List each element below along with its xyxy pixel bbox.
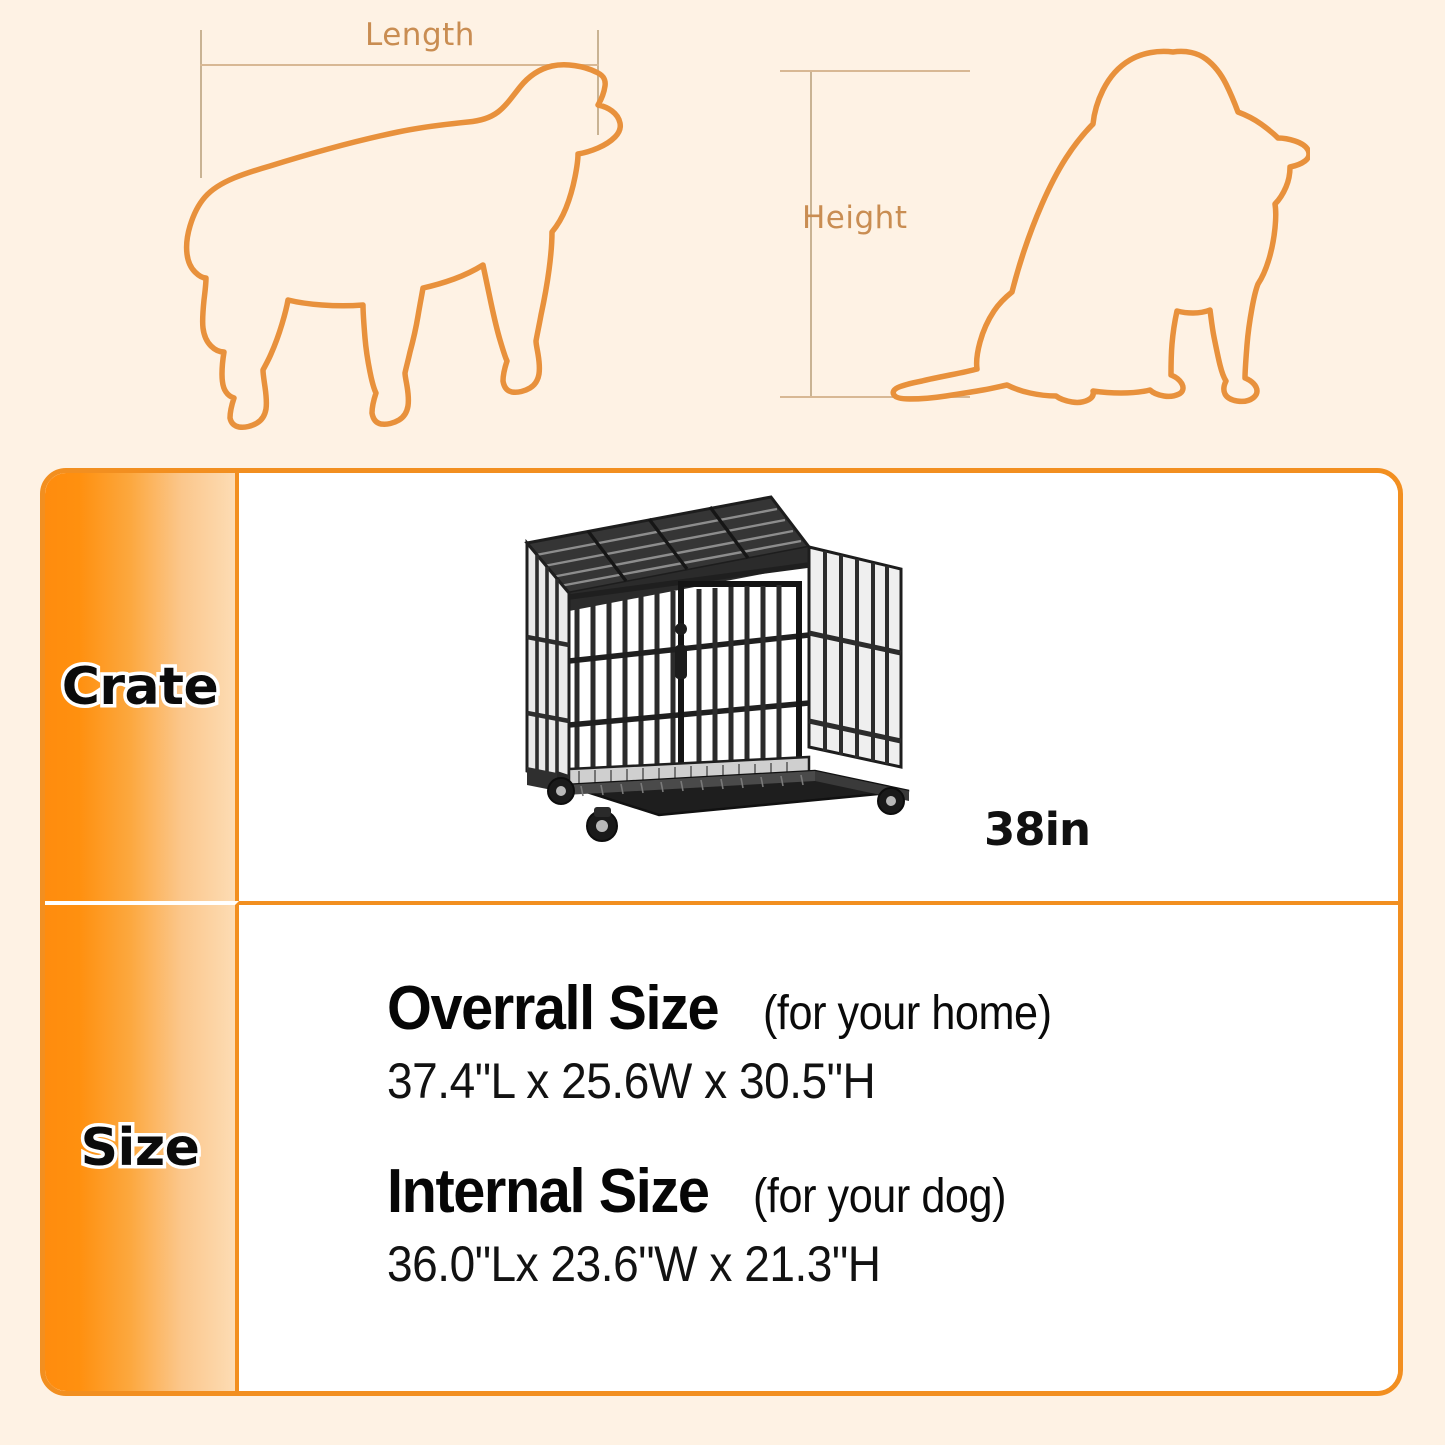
internal-size-group: Internal Size (for your dog) 36.0"Lx 23.… (387, 1156, 1387, 1293)
dog-size-diagram: Length Height (0, 0, 1445, 455)
internal-size-heading: Internal Size (387, 1156, 709, 1227)
crate-row: Crate (45, 473, 1398, 901)
size-row-content: Overrall Size (for your home) 37.4"L x 2… (239, 905, 1398, 1391)
internal-size-value: 36.0"Lx 23.6"W x 21.3"H (387, 1235, 1307, 1293)
crate-row-content: 38in (239, 473, 1398, 901)
height-measurement-panel: Height (760, 0, 1300, 455)
overall-size-value: 37.4"L x 25.6W x 30.5"H (387, 1052, 1307, 1110)
internal-size-note: (for your dog) (753, 1169, 1006, 1224)
sitting-dog-outline-icon (890, 40, 1310, 410)
size-spec-list: Overrall Size (for your home) 37.4"L x 2… (387, 973, 1387, 1339)
crate-row-label-cell: Crate (45, 473, 239, 901)
overall-size-group: Overrall Size (for your home) 37.4"L x 2… (387, 973, 1387, 1110)
crate-dimension-callout: 38in (984, 803, 1090, 856)
overall-size-heading: Overrall Size (387, 973, 718, 1044)
size-row-label-cell: Size (45, 901, 239, 1391)
spec-card: Crate (40, 468, 1403, 1396)
length-measurement-panel: Length (150, 0, 670, 455)
size-row: Size Overrall Size (for your home) 37.4"… (45, 901, 1398, 1391)
overall-size-note: (for your home) (763, 986, 1052, 1041)
standing-dog-outline-icon (160, 36, 630, 436)
dog-crate-photo-icon (509, 485, 929, 875)
crate-row-label: Crate (62, 657, 219, 717)
size-row-label: Size (81, 1118, 200, 1178)
